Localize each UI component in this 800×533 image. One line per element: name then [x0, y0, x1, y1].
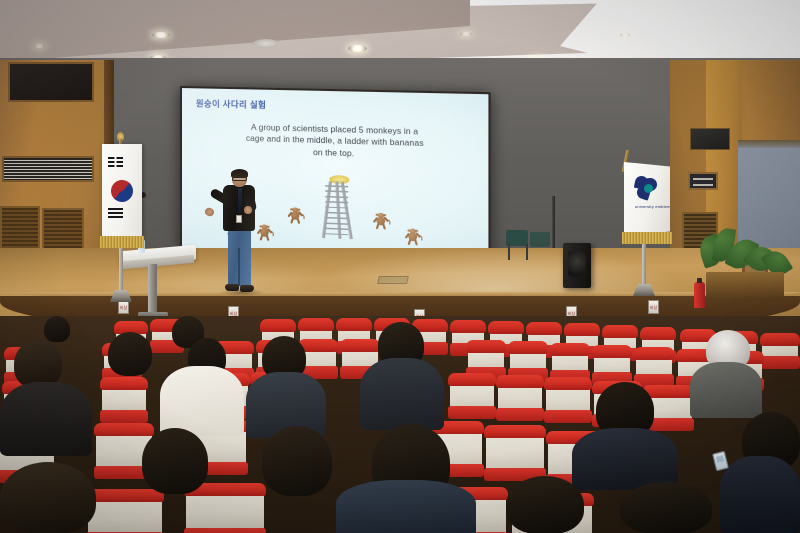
- jeans-seam: [238, 248, 240, 286]
- presenter: [214, 170, 264, 298]
- auditorium-seat[interactable]: [450, 378, 494, 412]
- audience-member: [620, 482, 712, 533]
- wall-louver-vent-icon: [0, 206, 40, 254]
- auditorium-seat[interactable]: [498, 380, 542, 414]
- monkey-graphic: [404, 227, 421, 245]
- audience-member: [108, 332, 152, 376]
- eyeglasses-icon: [232, 177, 247, 181]
- flag-fringe: [100, 236, 144, 248]
- downlight-icon: [152, 32, 170, 38]
- presenter-right-hand: [244, 206, 252, 214]
- audience-member: [262, 426, 332, 496]
- auditorium-seat[interactable]: [510, 346, 546, 374]
- audience-member: [0, 462, 96, 533]
- audience-member: [506, 476, 584, 533]
- presenter-shoe: [225, 284, 239, 291]
- audience-torso: [160, 366, 244, 436]
- auditorium-seat[interactable]: [88, 494, 162, 533]
- wall-sign: [688, 172, 718, 190]
- slide-title: 원숭이 사다리 실험: [196, 97, 266, 111]
- right-wall-dark-panel: [690, 128, 730, 150]
- bananas-graphic: [329, 175, 349, 184]
- audience-torso: [0, 382, 92, 456]
- auditorium-seat[interactable]: [546, 382, 590, 416]
- left-wall-dark-panel: [8, 62, 94, 102]
- audience-torso: [360, 358, 444, 430]
- institution-flag-assembly: university emblem: [616, 148, 678, 308]
- fire-extinguisher-icon: [694, 282, 705, 308]
- auditorium-seat[interactable]: [636, 352, 672, 380]
- flag-stand-base: [110, 290, 132, 302]
- stage-side-chair: [530, 232, 550, 247]
- institution-flag: university emblem: [624, 162, 670, 236]
- downlight-icon: [460, 32, 472, 36]
- presenter-necktie: [238, 188, 242, 213]
- monkey-graphic: [372, 212, 389, 230]
- chair-leg: [526, 244, 528, 260]
- downlight-icon: [348, 45, 367, 52]
- auditorium-seat[interactable]: [594, 350, 630, 378]
- presenter-shoe: [240, 285, 254, 292]
- auditorium-scene: 원숭이 사다리 실험 A group of scientists placed …: [0, 0, 800, 533]
- chair-leg: [508, 244, 510, 260]
- ladder-graphic: [316, 175, 362, 240]
- south-korea-flag: [102, 144, 142, 238]
- stage-floor-vent-icon: [377, 276, 409, 284]
- flag-fringe: [622, 232, 672, 244]
- pa-speaker: [563, 243, 591, 288]
- speaker-stand: [552, 196, 555, 248]
- auditorium-seat[interactable]: [102, 382, 146, 416]
- wall-air-vent-icon: [2, 156, 94, 182]
- audience-torso: [690, 362, 762, 418]
- auditorium-seat[interactable]: [486, 430, 544, 474]
- auditorium-seat[interactable]: [186, 488, 264, 533]
- auditorium-seat[interactable]: [468, 345, 504, 373]
- university-emblem-icon: [635, 176, 659, 200]
- audience-torso: [572, 428, 678, 490]
- audience-torso: [336, 480, 476, 533]
- downlight-icon: [34, 44, 45, 48]
- name-badge: [236, 215, 242, 223]
- flag-stand-base: [633, 284, 655, 296]
- auditorium-seat[interactable]: [762, 338, 798, 362]
- auditorium-seat[interactable]: [552, 348, 588, 376]
- downlight-icon: [620, 33, 630, 37]
- audience-member: [142, 428, 208, 494]
- smoke-detector-icon: [253, 39, 279, 48]
- flag-stand-stem: [642, 244, 646, 286]
- slide-body-text: A group of scientists placed 5 monkeys i…: [204, 121, 469, 164]
- korean-flag-assembly: [96, 132, 154, 308]
- flag-stand-stem: [119, 248, 123, 292]
- emblem-wordmark: university emblem: [635, 204, 671, 209]
- emblem-core: [644, 184, 653, 193]
- audience-torso: [720, 456, 800, 533]
- audience-member: [14, 340, 62, 388]
- plant-pot: [706, 272, 784, 300]
- trigram-icon: [108, 157, 123, 168]
- taeguk-symbol: [111, 180, 133, 202]
- ladder-rungs: [325, 185, 348, 237]
- audience-member: [44, 316, 70, 342]
- monkey-graphic: [287, 206, 303, 224]
